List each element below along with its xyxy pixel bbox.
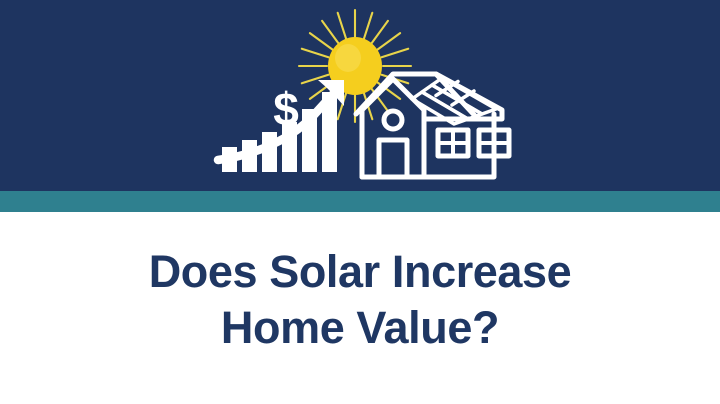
hero-artwork: $	[210, 2, 520, 187]
house-door	[379, 140, 407, 177]
house-window-right	[479, 130, 509, 156]
accent-divider-band	[0, 191, 720, 212]
house-window-left	[438, 130, 468, 156]
page-root: $	[0, 0, 720, 404]
round-gable-window	[384, 111, 402, 129]
page-title: Does Solar Increase Home Value?	[0, 244, 720, 356]
sun-icon	[299, 10, 411, 122]
growth-bar-chart-icon: $	[218, 80, 344, 172]
title-line-1: Does Solar Increase	[0, 244, 720, 300]
title-line-2: Home Value?	[0, 300, 720, 356]
solar-house-icon	[356, 74, 509, 177]
